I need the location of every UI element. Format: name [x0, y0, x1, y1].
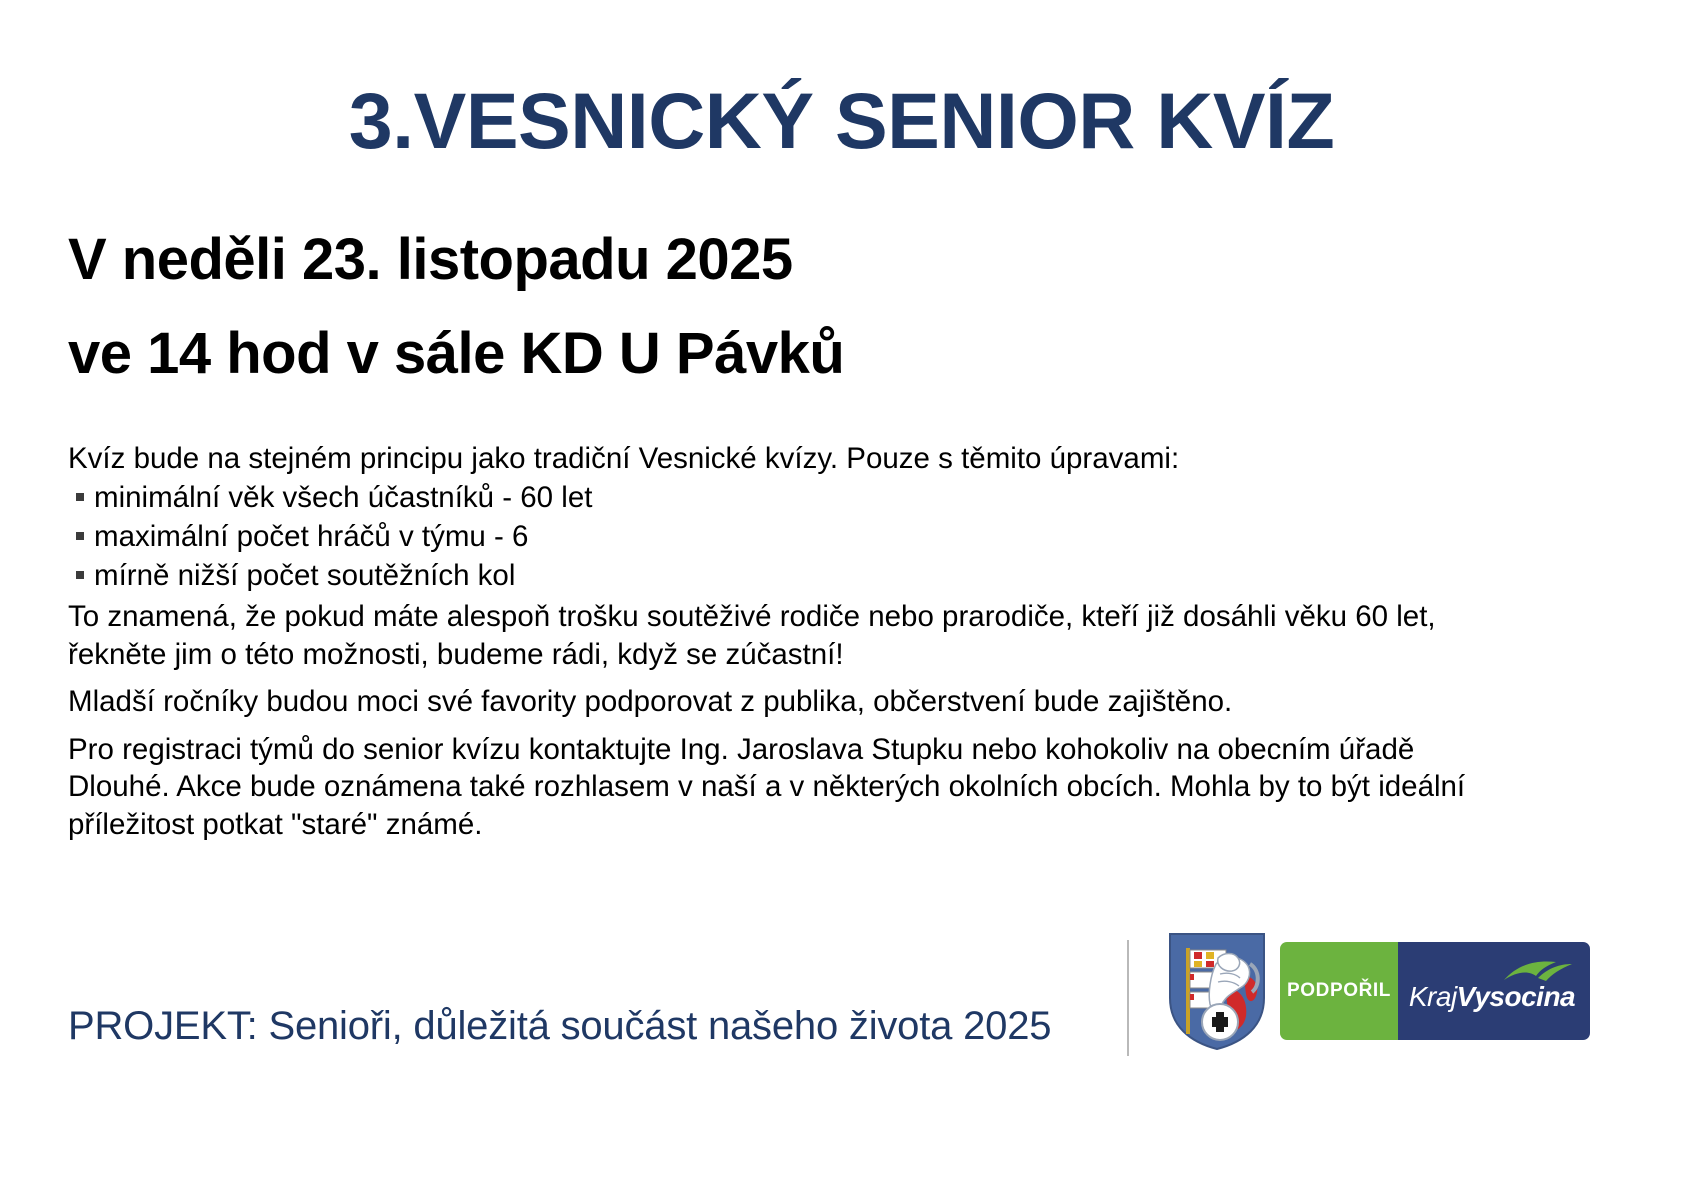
kraj-word: Kraj	[1409, 981, 1457, 1012]
paragraph-invitation: To znamená, že pokud máte alespoň trošku…	[68, 598, 1480, 673]
region-support-logo: PODPOŘIL KrajVysocina	[1280, 942, 1590, 1040]
paragraph-audience: Mladší ročníky budou moci své favority p…	[68, 683, 1480, 720]
coat-of-arms-icon	[1164, 930, 1270, 1052]
list-item-label: maximální počet hráčů v týmu - 6	[94, 520, 528, 553]
list-item: mírně nižší počet soutěžních kol	[68, 557, 1480, 596]
footer-logos: PODPOŘIL KrajVysocina	[1164, 930, 1590, 1052]
page-title: 3.VESNICKÝ SENIOR KVÍZ	[0, 78, 1683, 163]
logo-blue-block: KrajVysocina	[1398, 942, 1590, 1040]
list-item: minimální věk všech účastníků - 60 let	[68, 479, 1480, 518]
bullet-square-icon	[76, 532, 84, 540]
kraj-vysocina-wordmark: KrajVysocina	[1409, 981, 1575, 1013]
event-time-venue-line: ve 14 hod v sále KD U Pávků	[68, 322, 844, 387]
logo-green-block: PODPOŘIL	[1280, 942, 1398, 1040]
list-item-label: mírně nižší počet soutěžních kol	[94, 559, 515, 592]
bullet-square-icon	[76, 493, 84, 501]
footer-divider	[1127, 940, 1129, 1056]
body-content: Kvíz bude na stejném principu jako tradi…	[68, 440, 1480, 843]
project-label: PROJEKT: Senioři, důležitá součást našeh…	[68, 1004, 1051, 1049]
event-date-line: V neděli 23. listopadu 2025	[68, 228, 793, 293]
poster-canvas: 3.VESNICKÝ SENIOR KVÍZ V neděli 23. list…	[0, 0, 1683, 1190]
vysocina-word: Vysocina	[1457, 981, 1575, 1012]
bullet-square-icon	[76, 571, 84, 579]
list-item: maximální počet hráčů v týmu - 6	[68, 518, 1480, 557]
intro-paragraph: Kvíz bude na stejném principu jako tradi…	[68, 440, 1480, 477]
list-item-label: minimální věk všech účastníků - 60 let	[94, 481, 592, 514]
podporil-label: PODPOŘIL	[1287, 980, 1391, 1002]
paragraph-registration: Pro registraci týmů do senior kvízu kont…	[68, 731, 1480, 843]
rules-list: minimální věk všech účastníků - 60 let m…	[68, 479, 1480, 596]
